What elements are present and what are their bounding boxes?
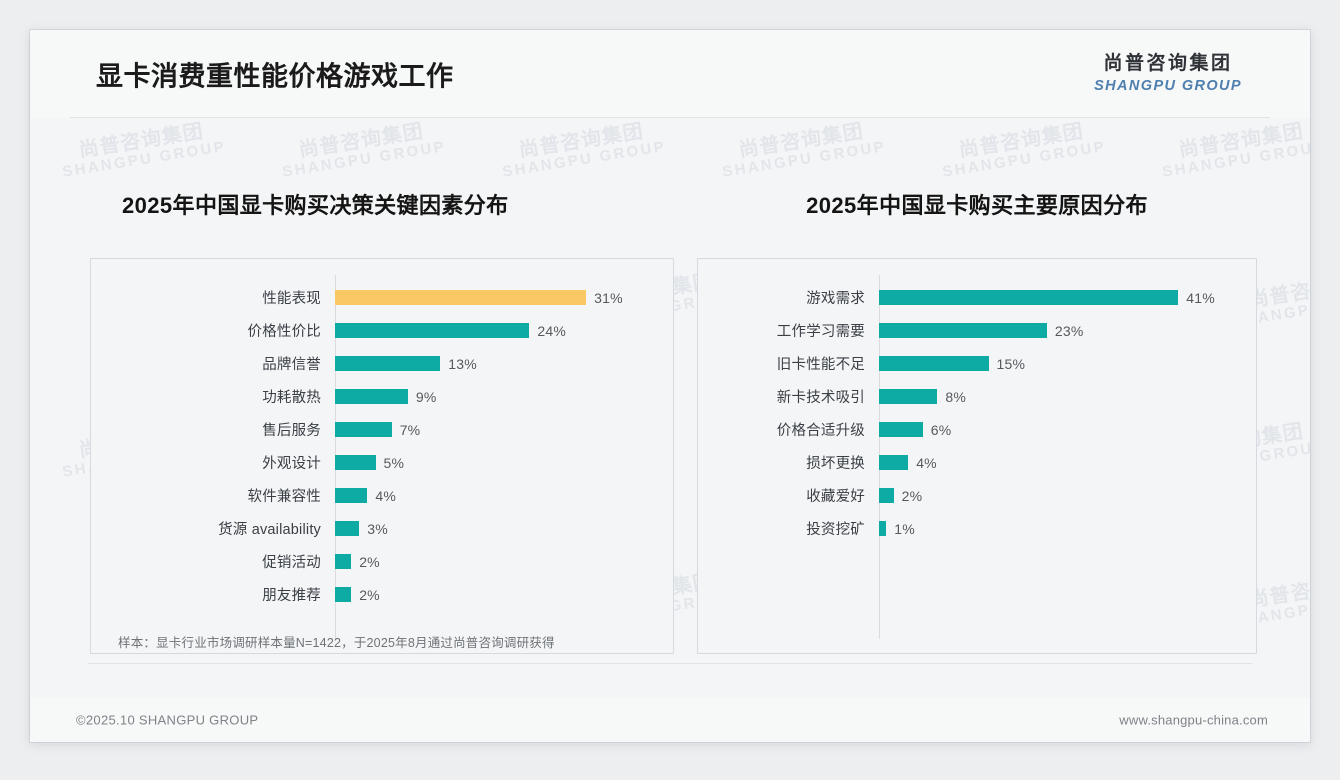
bar-category-label: 功耗散热 [91, 386, 335, 407]
copyright-text: ©2025.10 SHANGPU GROUP [76, 713, 258, 728]
bar-track: 24% [335, 314, 673, 347]
slide-card: 尚普咨询集团SHANGPU GROUP尚普咨询集团SHANGPU GROUP尚普… [30, 30, 1310, 742]
chart-bar-row: 价格性价比24% [91, 314, 673, 347]
bar-category-label: 游戏需求 [698, 287, 879, 308]
bar-value-label: 41% [1186, 290, 1215, 306]
chart-bar-row: 游戏需求41% [698, 281, 1256, 314]
bar-track: 7% [335, 413, 673, 446]
chart-title-left: 2025年中国显卡购买决策关键因素分布 [90, 190, 674, 222]
slide-footer: ©2025.10 SHANGPU GROUP www.shangpu-china… [30, 698, 1310, 742]
chart-bar-row: 价格合适升级6% [698, 413, 1256, 446]
bar-value-label: 13% [448, 356, 477, 372]
chart-bar-row: 软件兼容性4% [91, 479, 673, 512]
bar-value-label: 3% [367, 521, 388, 537]
chart-bar-row: 售后服务7% [91, 413, 673, 446]
bar-value-label: 31% [594, 290, 623, 306]
chart-bar-row: 旧卡性能不足15% [698, 347, 1256, 380]
chart-bar-row: 货源 availability3% [91, 512, 673, 545]
bar-category-label: 损坏更换 [698, 452, 879, 473]
page-title: 显卡消费重性能价格游戏工作 [96, 55, 454, 94]
bar-track: 31% [335, 281, 673, 314]
bar-track: 1% [879, 512, 1256, 545]
bar-track: 41% [879, 281, 1256, 314]
bar-value-label: 8% [945, 389, 966, 405]
bar-value-label: 24% [537, 323, 566, 339]
bar-segment [879, 521, 886, 536]
bar-segment [879, 290, 1178, 305]
bar-category-label: 性能表现 [91, 287, 335, 308]
bar-segment [335, 422, 392, 437]
bar-track: 8% [879, 380, 1256, 413]
bar-value-label: 7% [400, 422, 421, 438]
bar-segment [879, 389, 937, 404]
bar-segment [879, 323, 1047, 338]
bar-value-label: 15% [997, 356, 1026, 372]
logo-chinese-text: 尚普咨询集团 [1094, 53, 1242, 76]
bar-category-label: 旧卡性能不足 [698, 353, 879, 374]
bar-category-label: 朋友推荐 [91, 584, 335, 605]
slide-header: 显卡消费重性能价格游戏工作 尚普咨询集团 SHANGPU GROUP [30, 30, 1310, 118]
bar-track: 5% [335, 446, 673, 479]
bar-value-label: 4% [375, 488, 396, 504]
bar-segment [335, 554, 351, 569]
bar-segment [879, 455, 908, 470]
bar-track: 4% [335, 479, 673, 512]
bar-track: 23% [879, 314, 1256, 347]
bar-track: 9% [335, 380, 673, 413]
bar-category-label: 品牌信誉 [91, 353, 335, 374]
bar-category-label: 售后服务 [91, 419, 335, 440]
chart-title-right: 2025年中国显卡购买主要原因分布 [697, 190, 1257, 222]
bar-track: 6% [879, 413, 1256, 446]
bar-segment [335, 455, 376, 470]
bar-category-label: 价格性价比 [91, 320, 335, 341]
bar-track: 2% [335, 545, 673, 578]
bar-value-label: 2% [902, 488, 923, 504]
chart-panel-left: 性能表现31%价格性价比24%品牌信誉13%功耗散热9%售后服务7%外观设计5%… [90, 258, 674, 654]
bar-segment [335, 389, 408, 404]
bar-category-label: 投资挖矿 [698, 518, 879, 539]
bar-category-label: 工作学习需要 [698, 320, 879, 341]
bar-category-label: 货源 availability [91, 518, 335, 539]
bar-value-label: 5% [384, 455, 405, 471]
bar-segment [879, 422, 923, 437]
bar-category-label: 价格合适升级 [698, 419, 879, 440]
chart-bar-row: 投资挖矿1% [698, 512, 1256, 545]
bar-track: 13% [335, 347, 673, 380]
bar-segment [879, 488, 894, 503]
bar-category-label: 外观设计 [91, 452, 335, 473]
bar-segment [335, 521, 359, 536]
bar-value-label: 9% [416, 389, 437, 405]
chart-bar-row: 损坏更换4% [698, 446, 1256, 479]
bar-value-label: 2% [359, 587, 380, 603]
bar-segment [335, 323, 529, 338]
bar-value-label: 4% [916, 455, 937, 471]
chart-block-decision-factors: 2025年中国显卡购买决策关键因素分布 性能表现31%价格性价比24%品牌信誉1… [90, 118, 674, 654]
bar-segment [879, 356, 989, 371]
chart-bar-row: 性能表现31% [91, 281, 673, 314]
sample-note: 样本：显卡行业市场调研样本量N=1422，于2025年8月通过尚普咨询调研获得 [118, 632, 555, 651]
slide-page: 尚普咨询集团SHANGPU GROUP尚普咨询集团SHANGPU GROUP尚普… [0, 0, 1340, 780]
chart-bar-row: 外观设计5% [91, 446, 673, 479]
logo-english-text: SHANGPU GROUP [1094, 77, 1242, 95]
chart-bar-row: 工作学习需要23% [698, 314, 1256, 347]
bar-category-label: 新卡技术吸引 [698, 386, 879, 407]
chart-bar-row: 收藏爱好2% [698, 479, 1256, 512]
bar-category-label: 软件兼容性 [91, 485, 335, 506]
bar-segment [335, 356, 440, 371]
bar-track: 3% [335, 512, 673, 545]
bar-track: 2% [879, 479, 1256, 512]
chart-bar-row: 新卡技术吸引8% [698, 380, 1256, 413]
bar-segment [335, 587, 351, 602]
bar-value-label: 6% [931, 422, 952, 438]
bar-value-label: 2% [359, 554, 380, 570]
chart-rows-left: 性能表现31%价格性价比24%品牌信誉13%功耗散热9%售后服务7%外观设计5%… [91, 259, 673, 653]
bar-segment [335, 290, 586, 305]
bar-track: 2% [335, 578, 673, 611]
chart-bar-row: 促销活动2% [91, 545, 673, 578]
chart-rows-right: 游戏需求41%工作学习需要23%旧卡性能不足15%新卡技术吸引8%价格合适升级6… [698, 259, 1256, 653]
bar-segment [335, 488, 367, 503]
website-url[interactable]: www.shangpu-china.com [1119, 713, 1268, 728]
bar-category-label: 促销活动 [91, 551, 335, 572]
chart-panel-right: 游戏需求41%工作学习需要23%旧卡性能不足15%新卡技术吸引8%价格合适升级6… [697, 258, 1257, 654]
company-logo: 尚普咨询集团 SHANGPU GROUP [1094, 53, 1242, 95]
chart-bar-row: 朋友推荐2% [91, 578, 673, 611]
bar-value-label: 1% [894, 521, 915, 537]
chart-bar-row: 品牌信誉13% [91, 347, 673, 380]
chart-block-purchase-reasons: 2025年中国显卡购买主要原因分布 游戏需求41%工作学习需要23%旧卡性能不足… [697, 118, 1257, 654]
bar-category-label: 收藏爱好 [698, 485, 879, 506]
bar-value-label: 23% [1055, 323, 1084, 339]
footnote-area: 样本：显卡行业市场调研样本量N=1422，于2025年8月通过尚普咨询调研获得 [30, 622, 1310, 666]
chart-bar-row: 功耗散热9% [91, 380, 673, 413]
bar-track: 4% [879, 446, 1256, 479]
bar-track: 15% [879, 347, 1256, 380]
